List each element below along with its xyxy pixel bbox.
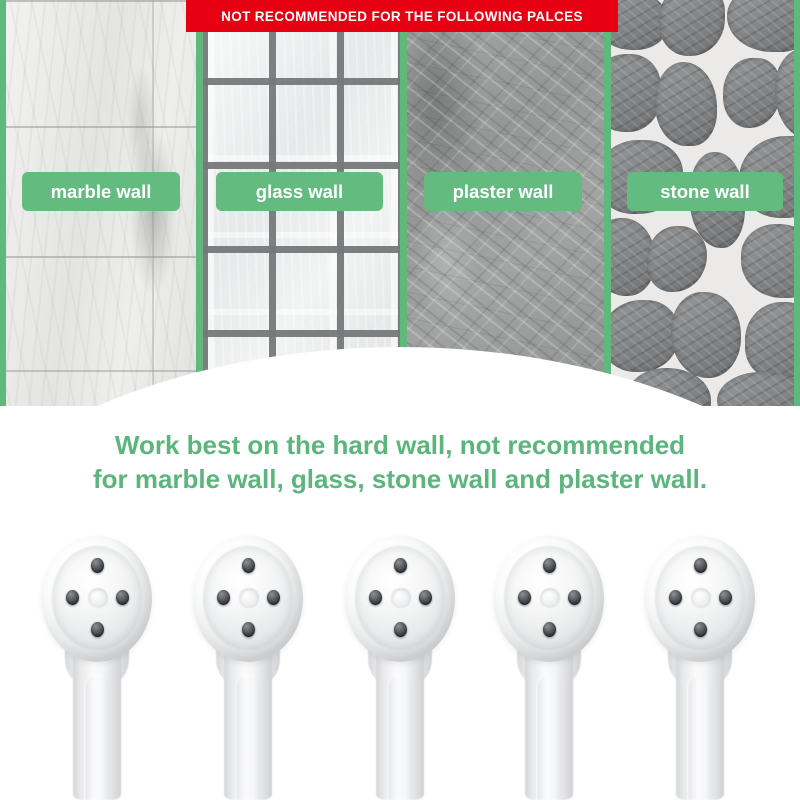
label-chip-stone-wall-text: stone wall [660,181,749,203]
headline-line-1: Work best on the hard wall, not recommen… [0,428,800,462]
hook-center-dimple [239,588,259,608]
hook-pin-bottom [543,622,556,637]
label-chip-stone-wall: stone wall [627,172,783,211]
gallery-right-edge-accent [794,0,800,406]
hook-pin-left [369,590,382,605]
hook-pin-right [267,590,280,605]
hook-center-dimple [391,588,411,608]
product-hook-5 [637,520,763,800]
hook-pin-left [669,590,682,605]
hook-pin-top [694,558,707,573]
product-hook-4 [486,520,612,800]
hook-pin-top [394,558,407,573]
hook-pin-top [242,558,255,573]
label-chip-glass-wall: glass wall [216,172,383,211]
panel-divider-2 [400,0,407,406]
hook-pin-right [719,590,732,605]
headline: Work best on the hard wall, not recommen… [0,428,800,496]
product-hook-3 [337,520,463,800]
hook-pin-right [419,590,432,605]
label-chip-marble-wall-text: marble wall [51,181,152,203]
hook-pin-bottom [242,622,255,637]
headline-line-2: for marble wall, glass, stone wall and p… [0,462,800,496]
hook-pin-top [543,558,556,573]
hook-pin-bottom [694,622,707,637]
product-hook-2 [185,520,311,800]
label-chip-marble-wall: marble wall [22,172,180,211]
hook-center-dimple [88,588,108,608]
hook-center-dimple [540,588,560,608]
panel-divider-3 [604,0,611,406]
hook-pin-bottom [91,622,104,637]
hook-slot [235,674,261,800]
product-hook-1 [34,520,160,800]
hook-pin-right [568,590,581,605]
hook-pin-bottom [394,622,407,637]
gallery-left-edge-accent [0,0,6,406]
hook-slot [84,674,110,800]
product-hook-row [0,520,800,800]
warning-banner: NOT RECOMMENDED FOR THE FOLLOWING PALCES [186,0,618,32]
label-chip-glass-wall-text: glass wall [256,181,343,203]
warning-banner-text: NOT RECOMMENDED FOR THE FOLLOWING PALCES [221,9,583,24]
hook-pin-left [518,590,531,605]
hook-slot [536,674,562,800]
hook-center-dimple [691,588,711,608]
hook-slot [387,674,413,800]
label-chip-plaster-wall-text: plaster wall [453,181,554,203]
label-chip-plaster-wall: plaster wall [424,172,582,211]
hook-pin-top [91,558,104,573]
panel-divider-1 [196,0,203,406]
hook-slot [687,674,713,800]
hook-pin-right [116,590,129,605]
product-infographic: NOT RECOMMENDED FOR THE FOLLOWING PALCES… [0,0,800,800]
hook-pin-left [66,590,79,605]
hook-pin-left [217,590,230,605]
